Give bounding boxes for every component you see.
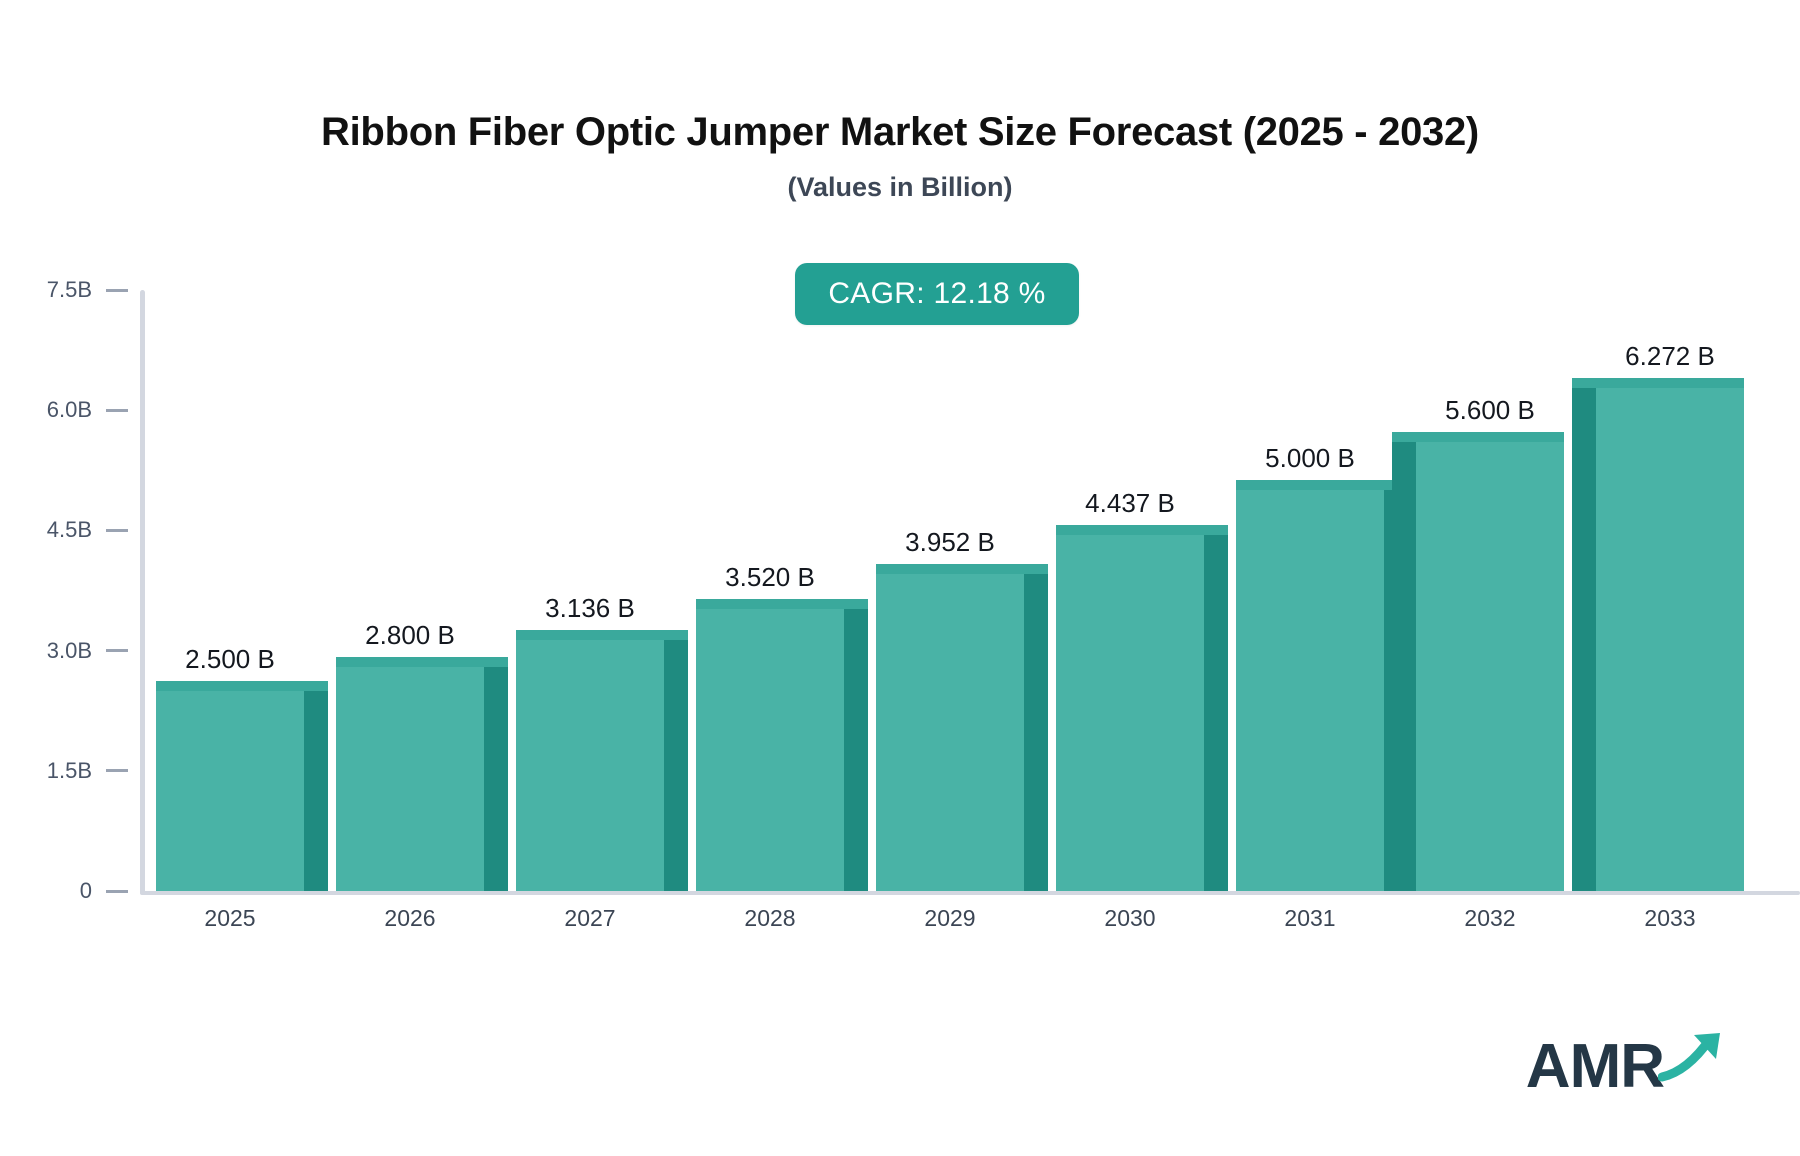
- y-axis-tick-dash: [106, 649, 128, 652]
- bar-side: [664, 630, 688, 891]
- y-axis-tick-dash: [106, 529, 128, 532]
- x-axis-label-2030: 2030: [1104, 905, 1155, 932]
- bar-front: [1236, 490, 1384, 891]
- chart-title: Ribbon Fiber Optic Jumper Market Size Fo…: [0, 110, 1800, 155]
- x-axis-line: [140, 891, 1800, 895]
- trend-up-arrow-icon: [1658, 1029, 1728, 1088]
- bar-front: [336, 667, 484, 891]
- y-axis-tick-label: 6.0B: [47, 397, 92, 423]
- bar-2026[interactable]: 2.800 B: [336, 667, 484, 891]
- x-axis-label-2029: 2029: [924, 905, 975, 932]
- y-axis-tick-dash: [106, 289, 128, 292]
- bar-side: [1204, 525, 1228, 891]
- plot-area: 01.5B3.0B4.5B6.0B7.5B 2.500 B2.800 B3.13…: [140, 290, 1760, 895]
- bar-2027[interactable]: 3.136 B: [516, 640, 664, 891]
- bar-side: [304, 681, 328, 891]
- bar-value-label: 3.952 B: [905, 527, 995, 558]
- bar-top: [516, 630, 688, 640]
- bar-2029[interactable]: 3.952 B: [876, 574, 1024, 891]
- bar-top: [696, 599, 868, 609]
- bar-front: [696, 609, 844, 891]
- y-axis-tick-label: 3.0B: [47, 638, 92, 664]
- x-axis-label-2033: 2033: [1644, 905, 1695, 932]
- x-axis-label-2026: 2026: [384, 905, 435, 932]
- bar-2025[interactable]: 2.500 B: [156, 691, 304, 891]
- bar-top: [876, 564, 1048, 574]
- y-axis-tick: 4.5B: [47, 517, 140, 543]
- bar-front: [516, 640, 664, 891]
- y-axis-tick-label: 0: [80, 878, 92, 904]
- bar-front: [156, 691, 304, 891]
- bar-front: [1596, 388, 1744, 891]
- bar-side: [1024, 564, 1048, 891]
- x-axis-label-2027: 2027: [564, 905, 615, 932]
- bar-side: [844, 599, 868, 891]
- amr-logo: AMR: [1526, 1036, 1728, 1098]
- bar-2028[interactable]: 3.520 B: [696, 609, 844, 891]
- bar-top: [1236, 480, 1408, 490]
- bar-top: [336, 657, 508, 667]
- bar-side: [1572, 378, 1596, 891]
- y-axis-tick: 7.5B: [47, 277, 140, 303]
- bar-2033[interactable]: 6.272 B: [1596, 388, 1744, 891]
- y-axis-tick-dash: [106, 890, 128, 893]
- bar-value-label: 2.800 B: [365, 620, 455, 651]
- bar-side: [484, 657, 508, 891]
- bar-top: [156, 681, 328, 691]
- y-axis-tick: 1.5B: [47, 758, 140, 784]
- bar-2032[interactable]: 5.600 B: [1416, 442, 1564, 891]
- bar-value-label: 2.500 B: [185, 644, 275, 675]
- bar-top: [1572, 378, 1744, 388]
- y-axis-tick-label: 4.5B: [47, 517, 92, 543]
- chart-subtitle: (Values in Billion): [0, 172, 1800, 203]
- bar-value-label: 3.136 B: [545, 593, 635, 624]
- chart-canvas: Ribbon Fiber Optic Jumper Market Size Fo…: [0, 0, 1800, 1156]
- bar-front: [1416, 442, 1564, 891]
- bar-series: 2.500 B2.800 B3.136 B3.520 B3.952 B4.437…: [140, 290, 1760, 891]
- bar-2031[interactable]: 5.000 B: [1236, 490, 1384, 891]
- x-axis-label-2025: 2025: [204, 905, 255, 932]
- amr-logo-text: AMR: [1526, 1036, 1664, 1098]
- bar-front: [876, 574, 1024, 891]
- bar-front: [1056, 535, 1204, 891]
- bar-top: [1056, 525, 1228, 535]
- x-axis-label-2031: 2031: [1284, 905, 1335, 932]
- x-axis-label-2028: 2028: [744, 905, 795, 932]
- x-axis-label-2032: 2032: [1464, 905, 1515, 932]
- y-axis-tick-label: 1.5B: [47, 758, 92, 784]
- bar-value-label: 5.600 B: [1445, 395, 1535, 426]
- bar-value-label: 6.272 B: [1625, 341, 1715, 372]
- y-axis-tick-dash: [106, 409, 128, 412]
- y-axis-tick: 6.0B: [47, 397, 140, 423]
- bar-value-label: 3.520 B: [725, 562, 815, 593]
- y-axis-tick-label: 7.5B: [47, 277, 92, 303]
- bar-value-label: 5.000 B: [1265, 443, 1355, 474]
- bar-value-label: 4.437 B: [1085, 488, 1175, 519]
- y-axis-tick-dash: [106, 769, 128, 772]
- y-axis-tick: 0: [80, 878, 140, 904]
- y-axis-tick: 3.0B: [47, 638, 140, 664]
- x-axis-labels: 202520262027202820292030203120322033: [140, 905, 1760, 945]
- bar-side: [1392, 432, 1416, 891]
- bar-top: [1392, 432, 1564, 442]
- bar-2030[interactable]: 4.437 B: [1056, 535, 1204, 891]
